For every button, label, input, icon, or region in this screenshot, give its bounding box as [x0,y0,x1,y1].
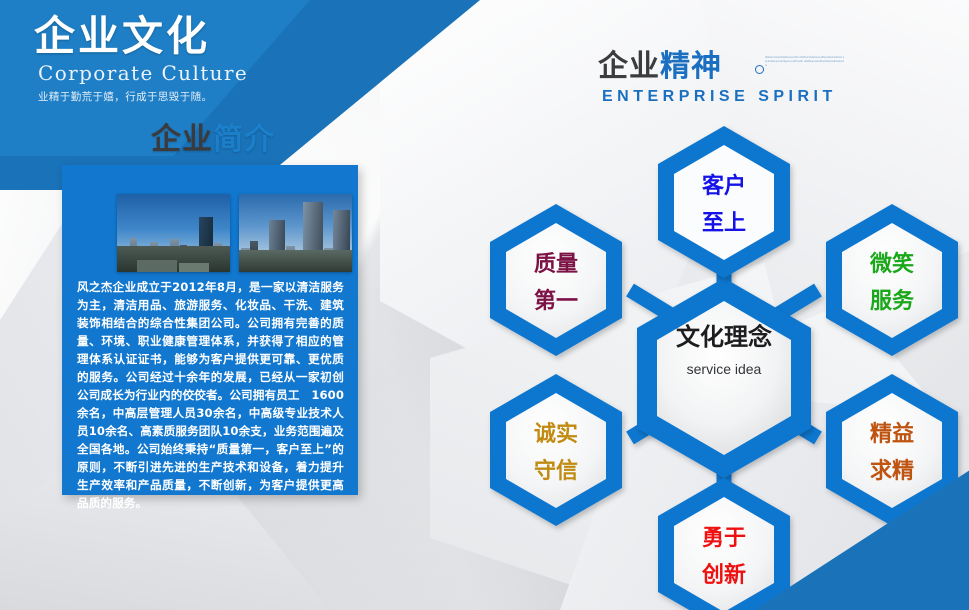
hex-center-label-en: service idea [687,361,762,377]
spirit-title-en: ENTERPRISE SPIRIT [598,88,837,106]
hex-node-label-ul-1: 质量 [534,252,578,277]
hex-node-label-top-1: 客户 [702,173,746,199]
spirit-title-blue: 精神 [660,49,722,84]
header-subtitle: 业精于勤荒于嬉，行成于思毁于随。 [34,89,294,104]
intro-section-title: 企业简介 [151,114,275,158]
hex-node-label-lr-2: 求精 [870,458,914,484]
cityscape-photo-2 [239,194,352,272]
hex-node-label-bottom-2: 创新 [701,562,746,588]
hex-node-smile-service[interactable] [826,204,958,356]
hex-node-label-top-2: 至上 [702,211,746,236]
hex-node-quality-first[interactable] [490,204,622,356]
hex-node-label-ul-2: 第一 [534,288,578,314]
intro-title-dark: 企业 [151,122,213,157]
poster-canvas: 企业文化 Corporate Culture 业精于勤荒于嬉，行成于思毁于随。 … [0,0,969,610]
hex-center-label-cn: 文化理念 [676,323,772,351]
hex-node-customer-first[interactable] [658,126,790,278]
spirit-title-dark: 企业 [598,49,660,84]
corporate-culture-header: 企业文化 Corporate Culture 业精于勤荒于嬉，行成于思毁于随。 [34,14,294,104]
enterprise-spirit-header: 企业精神 dfikdsclswehlidsklswsnchkl dhdfisci… [598,52,837,106]
header-title-cn: 企业文化 [34,14,294,60]
hex-node-label-ll-1: 诚实 [534,421,578,447]
intro-title-blue: 简介 [213,122,275,157]
company-intro-body: 风之杰企业成立于2012年8月，是一家以清洁服务为主，清洁用品、旅游服务、化妆品… [77,279,344,513]
decorative-micro-text: dfikdsclswehlidsklswsnchkl dhdfiscitisfu… [765,56,845,67]
header-title-en: Corporate Culture [34,61,294,85]
decorative-circle-icon [755,65,764,74]
cityscape-photo-1 [117,194,230,272]
company-intro-panel: 风之杰企业成立于2012年8月，是一家以清洁服务为主，清洁用品、旅游服务、化妆品… [62,165,358,495]
hex-node-label-ur-2: 服务 [870,289,915,314]
photo-gallery [117,194,352,272]
hex-node-label-ur-1: 微笑 [869,251,914,277]
hex-node-label-bottom-1: 勇于 [702,526,746,551]
hex-node-label-ll-2: 守信 [534,458,578,484]
hex-node-label-lr-1: 精益 [870,421,914,447]
hex-node-honest-trust[interactable] [490,374,622,526]
